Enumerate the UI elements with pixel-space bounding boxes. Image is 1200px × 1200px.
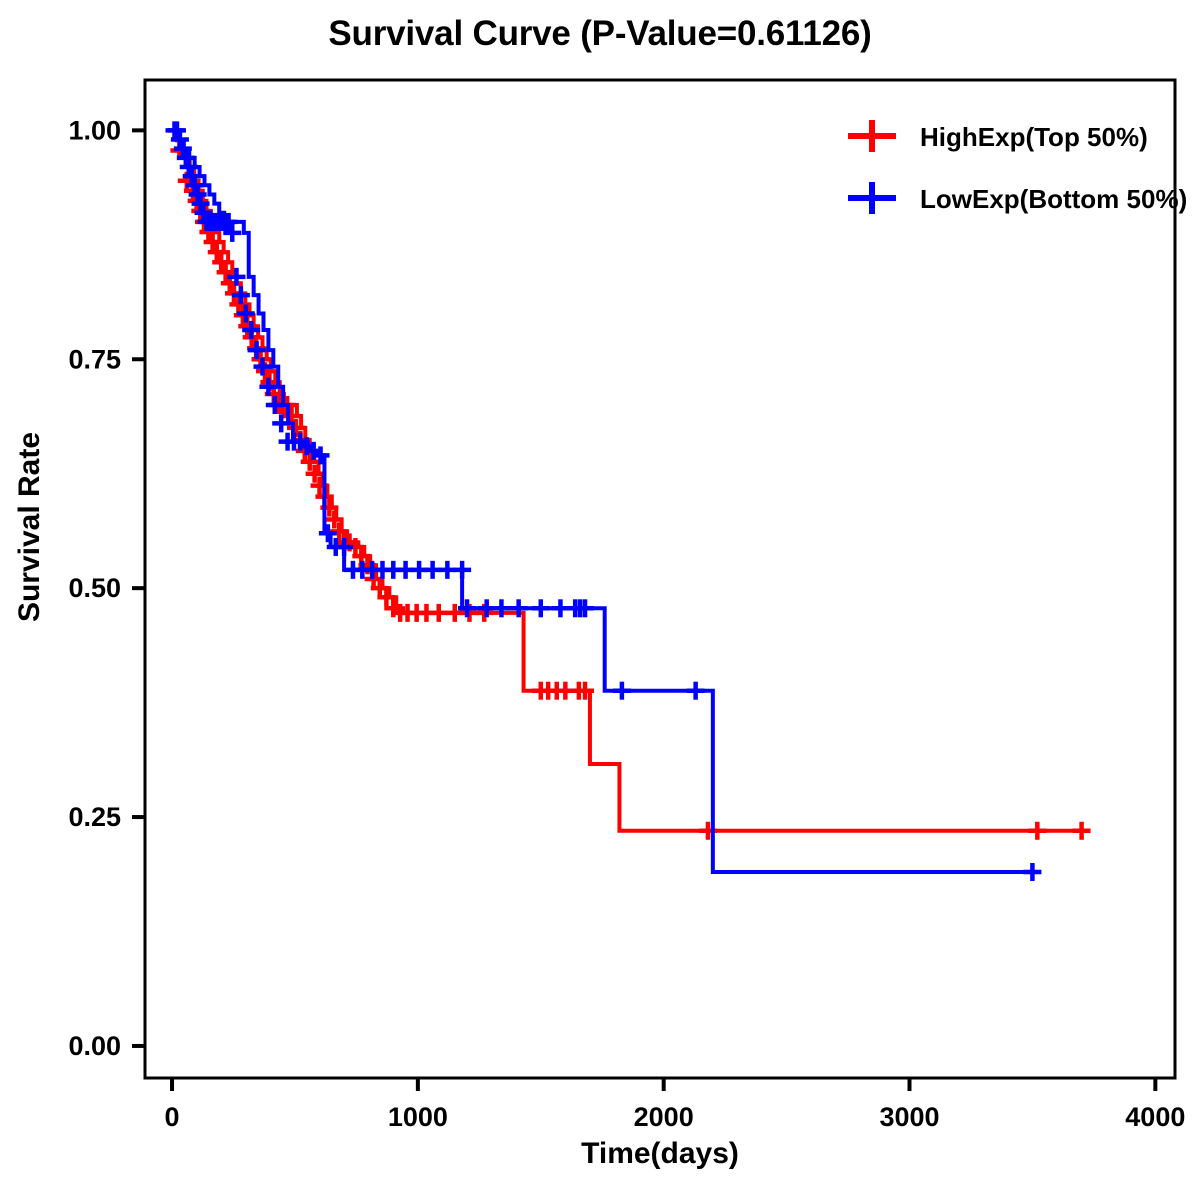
legend-item-low-exp[interactable]: LowExp(Bottom 50%) <box>848 182 1187 214</box>
y-tick-label: 1.00 <box>68 115 121 145</box>
step-line <box>172 130 1084 830</box>
y-tick-label: 0.75 <box>68 344 121 374</box>
x-tick-label: 0 <box>165 1102 180 1132</box>
x-tick-label: 4000 <box>1125 1102 1185 1132</box>
x-tick-label: 3000 <box>879 1102 939 1132</box>
y-axis-ticks: 0.000.250.500.751.00 <box>68 115 145 1061</box>
plot-frame <box>145 80 1175 1078</box>
legend-label: LowExp(Bottom 50%) <box>920 184 1187 214</box>
x-axis-ticks: 01000200030004000 <box>165 1078 1186 1132</box>
y-tick-label: 0.50 <box>68 573 121 603</box>
censor-marks <box>165 121 1041 881</box>
series-container <box>165 121 1090 881</box>
plot-border <box>145 80 1175 1078</box>
censor-marks <box>170 142 1090 840</box>
series-low-exp <box>165 121 1041 881</box>
plot-area: 01000200030004000 0.000.250.500.751.00 H… <box>0 0 1200 1200</box>
survival-curve-figure: Survival Curve (P-Value=0.61126) Surviva… <box>0 0 1200 1200</box>
x-tick-label: 1000 <box>388 1102 448 1132</box>
series-high-exp <box>170 130 1090 839</box>
legend-item-high-exp[interactable]: HighExp(Top 50%) <box>848 120 1148 152</box>
legend: HighExp(Top 50%)LowExp(Bottom 50%) <box>848 120 1187 214</box>
legend-label: HighExp(Top 50%) <box>920 122 1148 152</box>
step-line <box>172 130 1035 872</box>
y-tick-label: 0.00 <box>68 1031 121 1061</box>
x-tick-label: 2000 <box>634 1102 694 1132</box>
y-tick-label: 0.25 <box>68 802 121 832</box>
